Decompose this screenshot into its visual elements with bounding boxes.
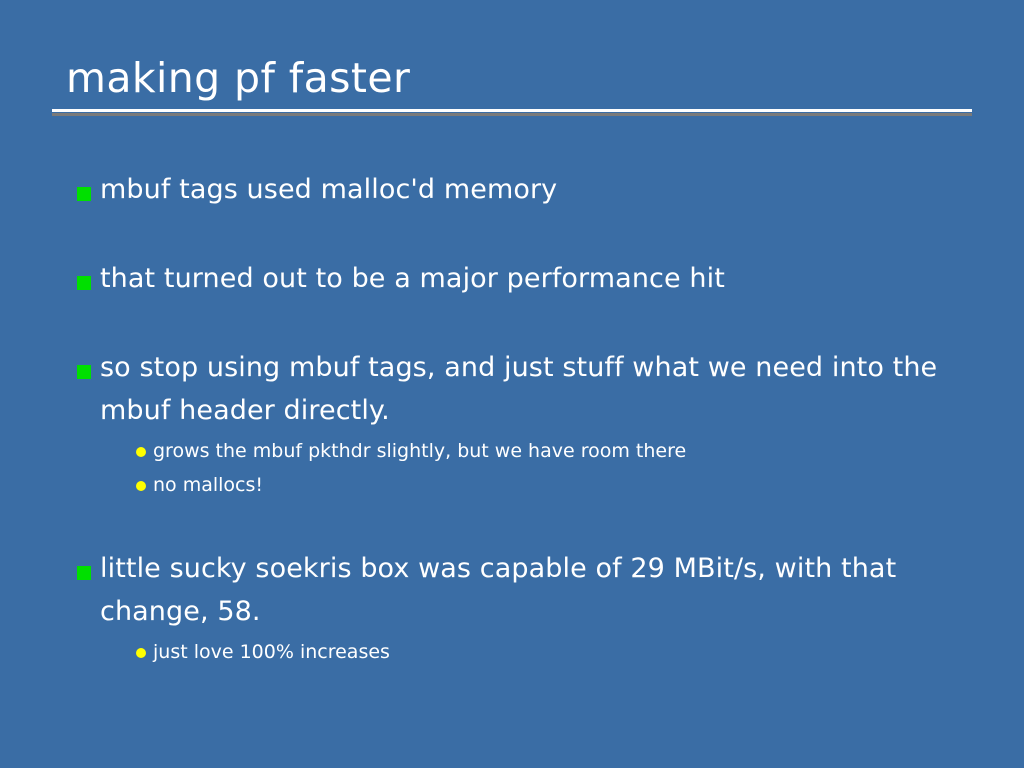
list-item: that turned out to be a major performanc… [70,257,970,300]
sub-list: grows the mbuf pkthdr slightly, but we h… [100,435,970,501]
sub-list-item: grows the mbuf pkthdr slightly, but we h… [133,435,970,467]
square-bullet-icon [77,365,91,379]
bullet-text: mbuf tags used malloc'd memory [100,168,970,211]
spacer [70,529,970,547]
slide-canvas: making pf faster mbuf tags used malloc'd… [0,0,1024,768]
dot-bullet-icon [136,648,146,658]
sub-list-item: just love 100% increases [133,636,970,668]
dot-bullet-icon [136,481,146,491]
bullet-text: that turned out to be a major performanc… [100,257,970,300]
sub-bullet-text: grows the mbuf pkthdr slightly, but we h… [153,435,970,467]
bullet-text: little sucky soekris box was capable of … [100,547,970,633]
square-bullet-icon [77,187,91,201]
slide-title-block: making pf faster [52,52,972,112]
spacer [70,239,970,257]
dot-bullet-icon [136,447,146,457]
sub-bullet-text: no mallocs! [153,469,970,501]
sub-list: just love 100% increases [100,636,970,668]
slide-body-content: mbuf tags used malloc'd memory that turn… [70,168,970,670]
list-item: so stop using mbuf tags, and just stuff … [70,346,970,501]
page-title: making pf faster [52,52,972,104]
list-item: little sucky soekris box was capable of … [70,547,970,668]
title-divider [52,109,972,112]
list-item: mbuf tags used malloc'd memory [70,168,970,211]
square-bullet-icon [77,566,91,580]
sub-list-item: no mallocs! [133,469,970,501]
square-bullet-icon [77,276,91,290]
bullet-text: so stop using mbuf tags, and just stuff … [100,346,970,432]
spacer [70,328,970,346]
sub-bullet-text: just love 100% increases [153,636,970,668]
